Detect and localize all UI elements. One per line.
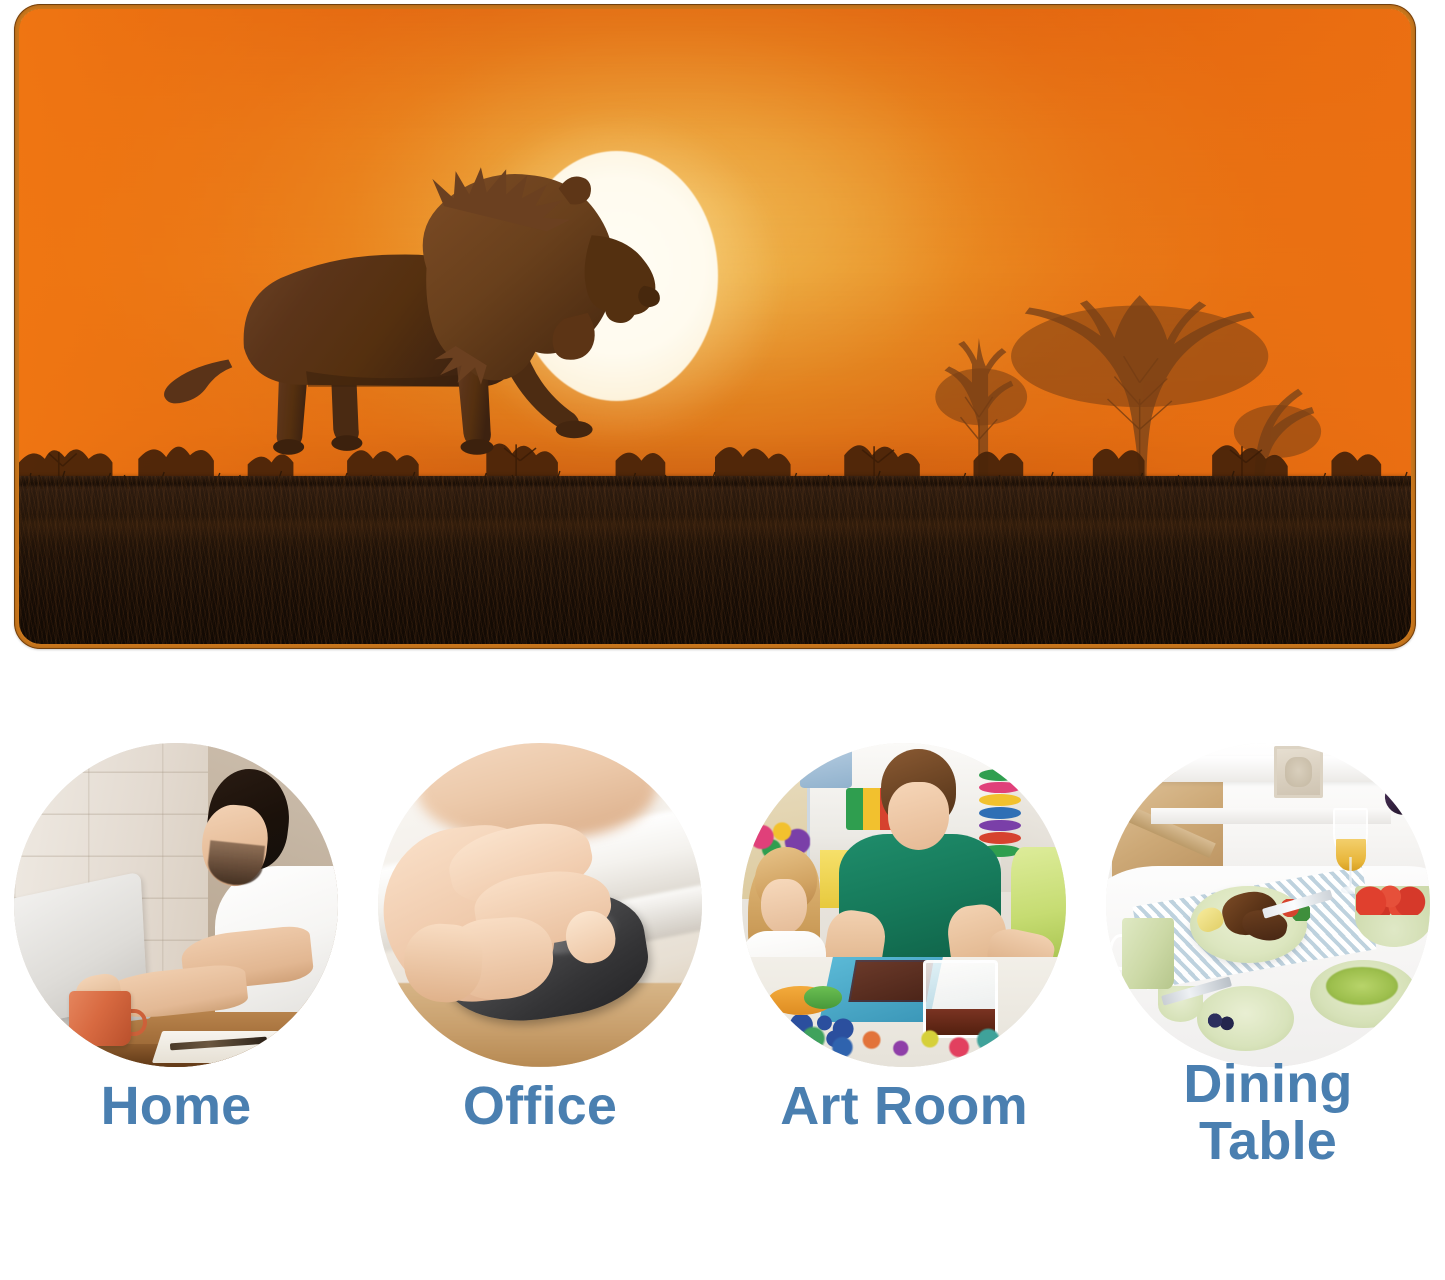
roast-potatoes [1216, 1009, 1271, 1041]
label-dining-table: Dining Table [1106, 1056, 1430, 1170]
clay-sticks-row [742, 1015, 1066, 1067]
label-cell-office: Office [378, 1078, 702, 1135]
frame-artwork [1285, 757, 1312, 786]
lion-silhouette-icon [130, 142, 742, 472]
label-home: Home [14, 1078, 338, 1135]
ground-highlight-band [19, 520, 1411, 557]
usage-scene-office[interactable] [378, 743, 702, 1067]
green-salad [1326, 967, 1397, 1006]
label-cell-dining-table: Dining Table [1106, 1056, 1430, 1170]
mousepad-print-surface [19, 9, 1411, 644]
product-listing-page: Home Office Art Room Dining Table [0, 0, 1445, 1280]
white-shelf [1151, 756, 1384, 782]
label-cell-art-room: Art Room [742, 1078, 1066, 1135]
girl-face [761, 879, 806, 934]
green-mug [1122, 918, 1174, 989]
cherry-tomatoes [1356, 882, 1427, 914]
dark-field-ground [19, 476, 1411, 644]
art-room-photo [742, 743, 1066, 1067]
office-photo [378, 743, 702, 1067]
usage-scene-art-room[interactable] [742, 743, 1066, 1067]
mousepad-hero-image[interactable] [14, 4, 1416, 649]
dark-craft-board [848, 960, 933, 1002]
usage-scene-labels: Home Office Art Room Dining Table [0, 1078, 1445, 1280]
label-cell-home: Home [14, 1078, 338, 1135]
green-clay-blob [804, 986, 843, 1009]
orange-mug [69, 991, 131, 1046]
label-office: Office [378, 1078, 702, 1135]
usage-scene-row [0, 743, 1445, 1073]
usage-scene-home[interactable] [14, 743, 338, 1067]
label-art-room: Art Room [742, 1078, 1066, 1135]
boy-face [888, 782, 950, 850]
blue-cushion [800, 743, 852, 788]
wine-glass-stem [1349, 857, 1351, 888]
home-photo [14, 743, 338, 1067]
ground-texture [19, 476, 1411, 644]
dining-table-photo [1106, 743, 1430, 1067]
usage-scene-dining-table[interactable] [1106, 743, 1430, 1067]
picture-frame [1274, 746, 1323, 798]
